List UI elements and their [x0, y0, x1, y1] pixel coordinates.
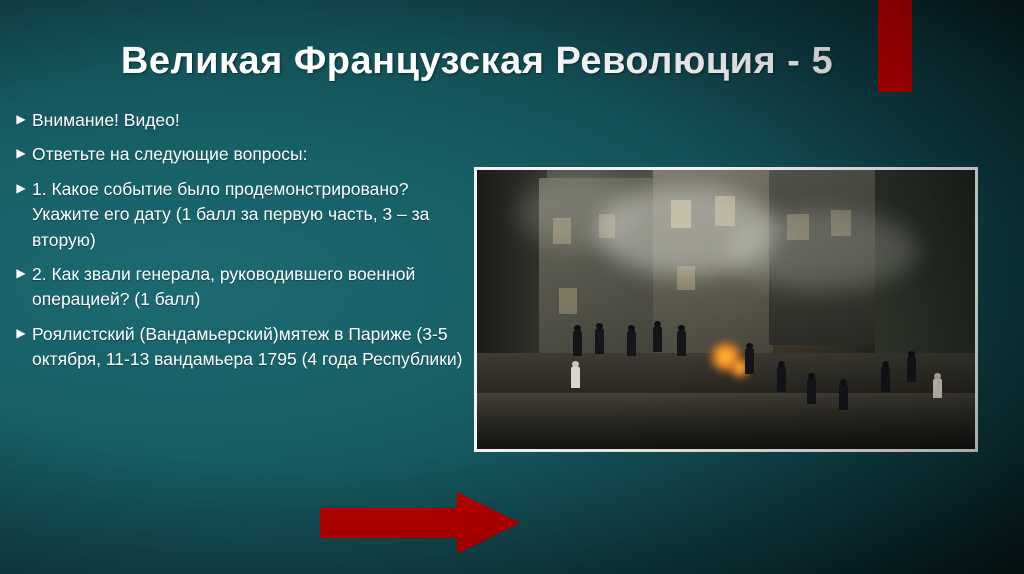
soldier-figure — [881, 366, 890, 392]
smoke-plume — [517, 178, 637, 248]
bullet-marker-icon: ▶ — [10, 108, 32, 125]
civilian-figure — [571, 366, 580, 388]
bullet-list: ▶ Внимание! Видео! ▶ Ответьте на следующ… — [10, 108, 480, 381]
slide-title: Великая Французская Революция - 5 — [62, 36, 892, 87]
soldier-figure — [839, 384, 848, 410]
civilian-figure — [933, 378, 942, 398]
bullet-marker-icon: ▶ — [10, 322, 32, 339]
bullet-text: Ответьте на следующие вопросы: — [32, 142, 480, 167]
bullet-text: Внимание! Видео! — [32, 108, 480, 133]
soldier-figure — [745, 348, 754, 374]
soldier-figure — [653, 326, 662, 352]
bullet-text: 1. Какое событие было продемонстрировано… — [32, 177, 480, 253]
soldier-figure — [907, 356, 916, 382]
arrow-head — [457, 492, 520, 554]
bullet-text: 2. Как звали генерала, руководившего вое… — [32, 262, 480, 313]
road-surface — [477, 393, 975, 449]
arrow-shaft — [320, 508, 460, 538]
list-item: ▶ 2. Как звали генерала, руководившего в… — [10, 262, 480, 313]
list-item: ▶ Роялистский (Вандамьерский)мятеж в Пар… — [10, 322, 480, 373]
video-still-image[interactable] — [474, 167, 978, 452]
window — [559, 288, 577, 314]
soldier-figure — [807, 378, 816, 404]
presentation-slide: Великая Французская Революция - 5 ▶ Вним… — [0, 0, 1024, 574]
list-item: ▶ Ответьте на следующие вопросы: — [10, 142, 480, 167]
red-arrow-next-icon[interactable] — [320, 492, 520, 554]
bullet-marker-icon: ▶ — [10, 142, 32, 159]
list-item: ▶ Внимание! Видео! — [10, 108, 480, 133]
soldier-figure — [777, 366, 786, 392]
list-item: ▶ 1. Какое событие было продемонстрирова… — [10, 177, 480, 253]
soldier-figure — [573, 330, 582, 356]
soldier-figure — [677, 330, 686, 356]
bullet-text: Роялистский (Вандамьерский)мятеж в Париж… — [32, 322, 480, 373]
scene-backdrop — [477, 170, 975, 449]
smoke-plume — [727, 210, 917, 290]
soldier-figure — [627, 330, 636, 356]
bullet-marker-icon: ▶ — [10, 262, 32, 279]
bullet-marker-icon: ▶ — [10, 177, 32, 194]
soldier-figure — [595, 328, 604, 354]
